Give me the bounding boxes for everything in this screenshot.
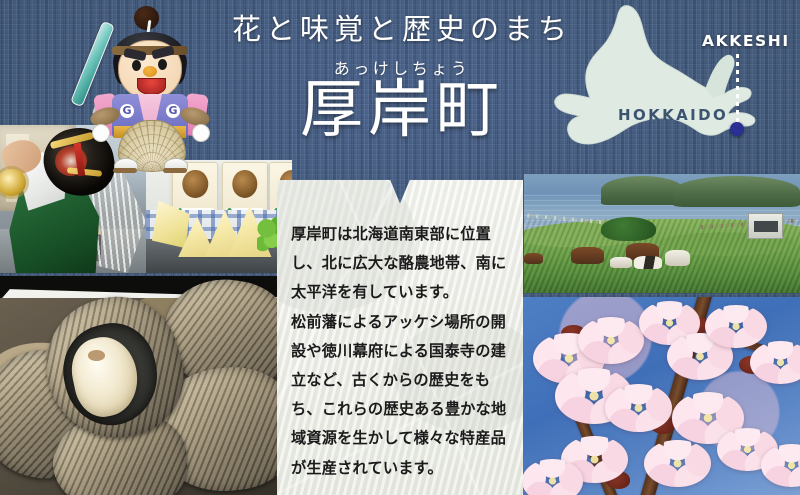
cherry-blossom-photo [522, 297, 800, 495]
hokkaido-map: HOKKAIDO AKKESHI [540, 2, 795, 174]
mascot-hand-right [192, 124, 210, 142]
hokkaido-island-shape [540, 2, 795, 174]
cheese-photo [146, 160, 292, 273]
headline-kicker: 花と味覚と歴史のまち [222, 14, 582, 46]
mascot-mouth [137, 78, 166, 95]
mascot-sandal-right [163, 168, 187, 173]
banner-root: 花と味覚と歴史のまち あっけしちょう 厚岸町 HOKKAIDO AKKESHI [0, 0, 800, 495]
page-title: 厚岸町 [222, 77, 582, 143]
oyster-samurai-mascot: G G [88, 2, 213, 172]
map-city-marker-dot [730, 122, 744, 136]
pasture-cattle-photo [524, 174, 800, 293]
map-label-hokkaido: HOKKAIDO [618, 106, 728, 124]
mascot-eye-left [132, 60, 141, 71]
description-text: 厚岸町は北海道南東部に位置し、北に広大な酪農地帯、南に太平洋を有しています。 松… [291, 220, 513, 483]
map-leader-line [736, 54, 739, 126]
mascot-crest-right: G [166, 104, 180, 118]
headline-block: 花と味覚と歴史のまち あっけしちょう 厚岸町 [222, 14, 582, 143]
mascot-sandal-left [113, 168, 137, 173]
map-label-akkeshi: AKKESHI [702, 32, 790, 50]
mascot-eye-right [158, 59, 167, 70]
description-panel: 厚岸町は北海道南東部に位置し、北に広大な酪農地帯、南に太平洋を有しています。 松… [277, 180, 523, 495]
mascot-hand-left [92, 124, 110, 142]
mascot-nose [143, 66, 157, 77]
mascot-crest-left: G [120, 104, 134, 118]
oyster-photo [0, 276, 292, 495]
